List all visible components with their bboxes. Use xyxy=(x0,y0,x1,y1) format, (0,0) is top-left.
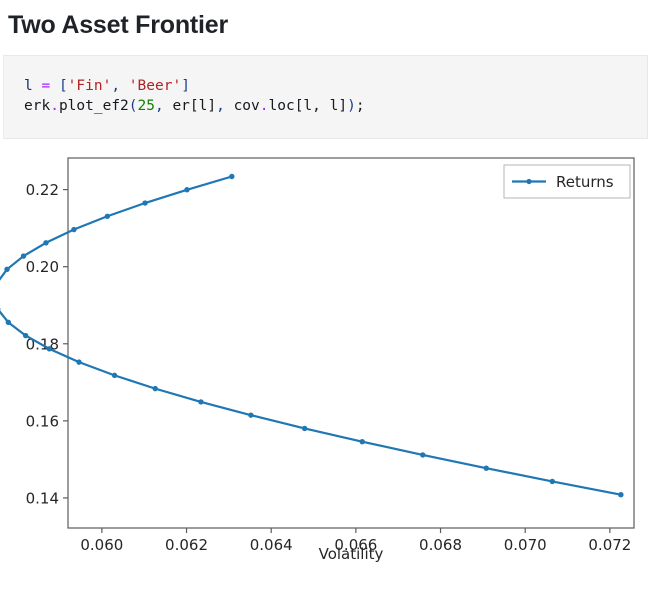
data-point xyxy=(142,200,147,205)
data-point xyxy=(105,214,110,219)
code-space xyxy=(50,78,59,94)
notebook-page: Two Asset Frontier l = ['Fin', 'Beer'] e… xyxy=(0,0,651,605)
code-token-arg-loc: loc[l, l] xyxy=(269,98,348,114)
data-point xyxy=(229,174,234,179)
x-axis-label: Volatility xyxy=(319,545,384,563)
data-point xyxy=(21,253,26,258)
page-title: Two Asset Frontier xyxy=(0,0,651,42)
chart-legend[interactable]: Returns xyxy=(504,165,630,198)
code-token-module: erk xyxy=(24,98,50,114)
data-point xyxy=(360,439,365,444)
data-point xyxy=(23,333,28,338)
code-token-open-bracket: [ xyxy=(59,78,68,94)
x-tick-label: 0.072 xyxy=(588,536,631,554)
x-tick-label: 0.060 xyxy=(80,536,123,554)
figure-output: 0.140.160.180.200.22 0.0600.0620.0640.06… xyxy=(0,145,651,565)
code-token-string-fin: 'Fin' xyxy=(68,78,112,94)
data-point xyxy=(420,452,425,457)
code-token-semicolon: ; xyxy=(356,98,365,114)
x-tick-label: 0.068 xyxy=(419,536,462,554)
legend-entry-returns: Returns xyxy=(556,173,614,191)
data-point xyxy=(618,492,623,497)
x-tick-label: 0.062 xyxy=(165,536,208,554)
code-token-arg-er: er[l] xyxy=(172,98,216,114)
code-line-2: erk.plot_ef2(25, er[l], cov.loc[l, l]); xyxy=(24,96,633,116)
code-token-assign: = xyxy=(41,78,50,94)
code-token-comma: , xyxy=(111,78,128,94)
code-token-function: plot_ef2 xyxy=(59,98,129,114)
code-cell[interactable]: l = ['Fin', 'Beer'] erk.plot_ef2(25, er[… xyxy=(3,55,648,139)
y-tick-label: 0.14 xyxy=(26,489,59,507)
data-point xyxy=(112,373,117,378)
y-tick-label: 0.20 xyxy=(26,258,59,276)
code-token-dot-2: . xyxy=(260,98,269,114)
data-point xyxy=(43,240,48,245)
code-token-arg-sep-1: , xyxy=(155,98,172,114)
data-point xyxy=(6,320,11,325)
data-point xyxy=(302,426,307,431)
data-point xyxy=(550,479,555,484)
code-token-arg-sep-2: , xyxy=(216,98,233,114)
code-token-arg-cov: cov xyxy=(234,98,260,114)
code-line-1: l = ['Fin', 'Beer'] xyxy=(24,76,633,96)
data-point xyxy=(153,386,158,391)
code-token-open-paren: ( xyxy=(129,98,138,114)
plot-frame xyxy=(68,158,634,528)
code-token-string-beer: 'Beer' xyxy=(129,78,181,94)
data-point xyxy=(484,465,489,470)
x-tick-label: 0.064 xyxy=(250,536,293,554)
code-token-number: 25 xyxy=(138,98,155,114)
data-point xyxy=(198,399,203,404)
x-tick-label: 0.070 xyxy=(504,536,547,554)
data-point xyxy=(184,187,189,192)
legend-marker-swatch xyxy=(526,179,531,184)
code-token-dot: . xyxy=(50,98,59,114)
y-axis-ticks: 0.140.160.180.200.22 xyxy=(26,181,68,507)
y-tick-label: 0.16 xyxy=(26,412,59,430)
code-token-close-bracket: ] xyxy=(181,78,190,94)
y-tick-label: 0.22 xyxy=(26,181,59,199)
data-point xyxy=(71,227,76,232)
efficient-frontier-chart: 0.140.160.180.200.22 0.0600.0620.0640.06… xyxy=(0,145,651,565)
code-token-close-paren: ) xyxy=(347,98,356,114)
data-point xyxy=(4,267,9,272)
data-point xyxy=(47,346,52,351)
code-token-variable: l xyxy=(24,78,33,94)
data-point xyxy=(76,359,81,364)
data-point xyxy=(248,412,253,417)
